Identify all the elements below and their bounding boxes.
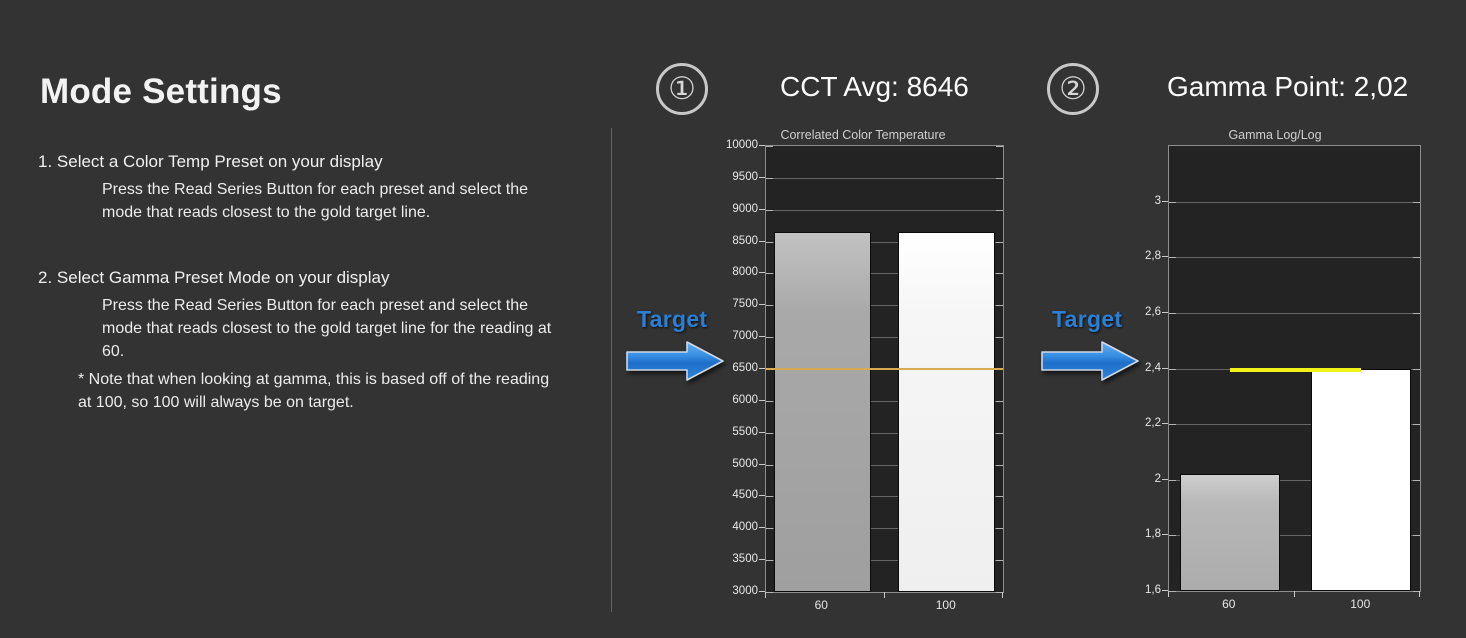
target-label-cct: Target [637, 306, 707, 333]
step-badge-1: ① [656, 63, 708, 115]
y-tick-mark [1169, 313, 1176, 314]
gridline [766, 210, 1003, 211]
instruction-step-2-note: * Note that when looking at gamma, this … [78, 368, 556, 414]
x-axis-tick-mark [884, 592, 885, 598]
y-tick-mark [766, 178, 773, 179]
y-axis-tick-mark [759, 368, 765, 369]
y-tick-mark [1169, 591, 1176, 592]
y-axis-tick-mark [759, 495, 765, 496]
y-tick-mark [1169, 369, 1176, 370]
y-axis-tick-mark [759, 336, 765, 337]
y-axis-tick-mark [759, 559, 765, 560]
y-tick-mark [1169, 480, 1176, 481]
y-axis-tick-mark [759, 304, 765, 305]
target-line [1230, 368, 1362, 372]
y-tick-mark [996, 242, 1003, 243]
y-tick-mark [766, 146, 773, 147]
y-tick-mark [766, 305, 773, 306]
chart-title-gamma: Gamma Log/Log [1140, 128, 1410, 142]
x-axis-tick-label: 60 [1222, 597, 1235, 611]
y-axis-tick-label: 3500 [732, 553, 758, 565]
vertical-divider [611, 128, 612, 612]
y-axis-tick-mark [759, 241, 765, 242]
bar-100 [898, 232, 995, 592]
y-tick-mark [766, 496, 773, 497]
chart-correlated-color-temperature: Correlated Color Temperature 30003500400… [720, 128, 1010, 612]
instruction-step-1-heading: 1. Select a Color Temp Preset on your di… [38, 150, 598, 173]
y-tick-mark [1169, 424, 1176, 425]
y-axis-tick-label: 1,6 [1145, 584, 1161, 596]
y-axis-tick-label: 9000 [732, 203, 758, 215]
instruction-step-2-detail: Press the Read Series Button for each pr… [102, 294, 552, 363]
y-axis-tick-mark [759, 272, 765, 273]
instruction-step-1-detail: Press the Read Series Button for each pr… [102, 178, 552, 224]
y-tick-mark [996, 560, 1003, 561]
y-tick-mark [1169, 202, 1176, 203]
y-axis-tick-label: 10000 [726, 139, 758, 151]
right-arrow-icon [625, 339, 725, 383]
y-axis-tick-label: 7500 [732, 298, 758, 310]
slide-root: Mode Settings 1. Select a Color Temp Pre… [0, 0, 1466, 638]
y-tick-mark [996, 401, 1003, 402]
y-tick-mark [766, 433, 773, 434]
y-axis-tick-label: 3000 [732, 585, 758, 597]
y-axis-tick-label: 6500 [732, 362, 758, 374]
y-tick-mark [996, 178, 1003, 179]
target-callout-cct: Target [625, 306, 735, 386]
bar-60 [774, 232, 871, 592]
y-axis-tick-label: 4000 [732, 521, 758, 533]
y-axis-tick-mark [1162, 423, 1168, 424]
y-axis-tick-label: 7000 [732, 330, 758, 342]
y-tick-mark [1169, 535, 1176, 536]
y-tick-mark [766, 528, 773, 529]
y-axis-tick-label: 2,8 [1145, 250, 1161, 262]
target-label-gamma: Target [1052, 306, 1122, 333]
target-line [766, 368, 1003, 370]
y-tick-mark [996, 273, 1003, 274]
bar-100 [1311, 369, 1411, 592]
y-tick-mark [996, 496, 1003, 497]
gridline [1169, 202, 1420, 203]
y-tick-mark [996, 210, 1003, 211]
y-tick-mark [766, 337, 773, 338]
step-badge-2: ② [1047, 63, 1099, 115]
instruction-step-2-heading: 2. Select Gamma Preset Mode on your disp… [38, 266, 598, 289]
y-axis-tick-mark [759, 145, 765, 146]
instruction-step-2: 2. Select Gamma Preset Mode on your disp… [38, 266, 598, 414]
y-axis-tick-mark [759, 177, 765, 178]
y-tick-mark [766, 465, 773, 466]
instructions-panel: Mode Settings 1. Select a Color Temp Pre… [0, 0, 611, 638]
y-axis-tick-mark [759, 464, 765, 465]
y-tick-mark [1413, 480, 1420, 481]
y-tick-mark [996, 305, 1003, 306]
y-axis-tick-mark [1162, 534, 1168, 535]
gridline [1169, 257, 1420, 258]
plot-area-gamma [1168, 145, 1421, 592]
y-axis-tick-label: 8500 [732, 235, 758, 247]
y-tick-mark [996, 146, 1003, 147]
y-tick-mark [766, 210, 773, 211]
y-axis-tick-label: 5000 [732, 458, 758, 470]
y-axis-tick-mark [759, 527, 765, 528]
y-tick-mark [766, 401, 773, 402]
plot-area-cct [765, 145, 1004, 593]
y-axis-tick-mark [759, 400, 765, 401]
y-axis-tick-label: 2,2 [1145, 417, 1161, 429]
y-axis-tick-label: 9500 [732, 171, 758, 183]
y-axis-tick-label: 4500 [732, 489, 758, 501]
x-axis-tick-mark [1002, 592, 1003, 598]
y-tick-mark [996, 528, 1003, 529]
y-axis-tick-mark [1162, 312, 1168, 313]
x-axis-tick-mark [1294, 591, 1295, 597]
y-axis-tick-mark [1162, 368, 1168, 369]
y-axis-tick-mark [1162, 479, 1168, 480]
y-axis-tick-label: 8000 [732, 266, 758, 278]
gridline [1169, 313, 1420, 314]
y-tick-mark [1169, 257, 1176, 258]
gamma-point-metric: Gamma Point: 2,02 [1167, 71, 1408, 103]
y-axis-tick-label: 2 [1155, 473, 1161, 485]
page-title: Mode Settings [40, 72, 282, 112]
y-tick-mark [996, 465, 1003, 466]
cct-average-metric: CCT Avg: 8646 [780, 71, 969, 103]
y-axis-tick-label: 2,6 [1145, 306, 1161, 318]
y-axis-tick-mark [1162, 201, 1168, 202]
y-tick-mark [1413, 313, 1420, 314]
y-tick-mark [996, 337, 1003, 338]
y-axis-tick-label: 2,4 [1145, 362, 1161, 374]
x-axis-tick-label: 100 [936, 598, 956, 612]
x-axis-tick-mark [1419, 591, 1420, 597]
y-axis-tick-label: 1,8 [1145, 528, 1161, 540]
y-axis-tick-mark [759, 209, 765, 210]
y-tick-mark [1413, 535, 1420, 536]
y-tick-mark [1413, 369, 1420, 370]
gridline [766, 178, 1003, 179]
y-tick-mark [766, 242, 773, 243]
x-axis-tick-label: 60 [815, 598, 828, 612]
y-tick-mark [996, 433, 1003, 434]
y-tick-mark [766, 592, 773, 593]
y-tick-mark [1413, 424, 1420, 425]
y-tick-mark [766, 560, 773, 561]
y-axis-tick-label: 5500 [732, 426, 758, 438]
chart-gamma-log-log: Gamma Log/Log 1,61,822,22,42,62,8360100 [1120, 128, 1440, 612]
bar-60 [1180, 474, 1280, 591]
y-tick-mark [766, 273, 773, 274]
y-axis-tick-mark [759, 432, 765, 433]
y-tick-mark [1413, 257, 1420, 258]
y-axis-tick-label: 6000 [732, 394, 758, 406]
x-axis-tick-mark [1168, 591, 1169, 597]
chart-title-cct: Correlated Color Temperature [738, 128, 988, 142]
y-axis-tick-mark [1162, 256, 1168, 257]
y-axis-tick-label: 3 [1155, 195, 1161, 207]
instruction-step-1: 1. Select a Color Temp Preset on your di… [38, 150, 598, 224]
x-axis-tick-mark [765, 592, 766, 598]
y-tick-mark [1413, 202, 1420, 203]
x-axis-tick-label: 100 [1350, 597, 1370, 611]
